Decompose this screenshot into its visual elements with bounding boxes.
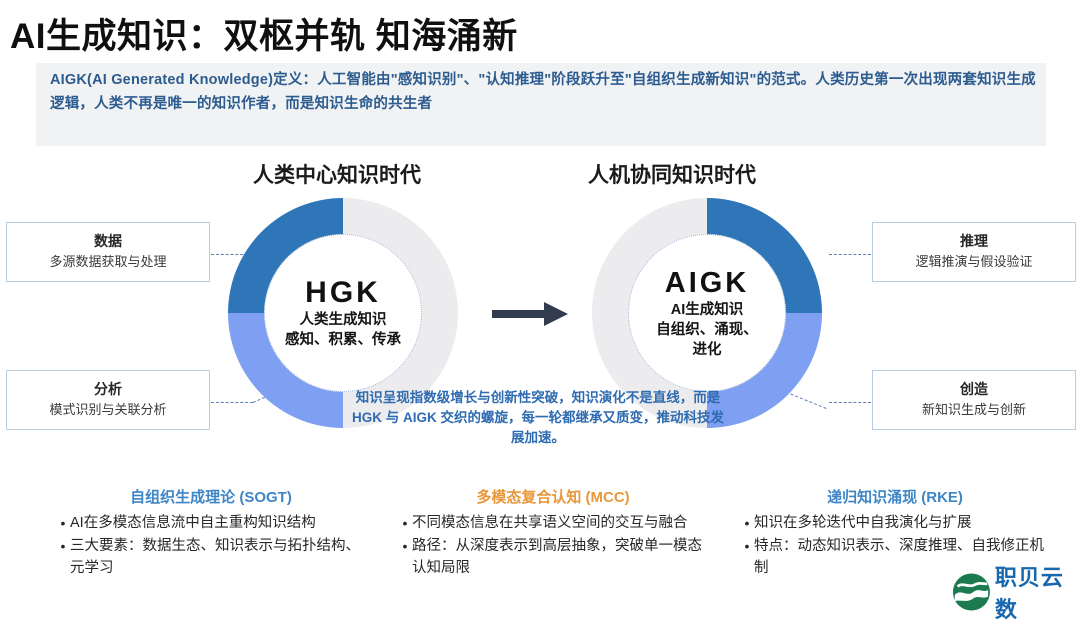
donut-desc-aigk-line3: 进化 xyxy=(693,340,722,360)
list-item-text: AI在多模态信息流中自主重构知识结构 xyxy=(70,512,366,534)
donut-code-aigk: AIGK xyxy=(665,266,750,300)
slide-root: AI生成知识：双枢并轨 知海涌新 AIGK(AI Generated Knowl… xyxy=(0,0,1080,608)
watermark: 职贝云数 xyxy=(952,560,1080,624)
connector-aigk-to-creation xyxy=(829,402,871,403)
list-item: • 知识在多轮迭代中自我演化与扩展 xyxy=(740,512,1050,534)
theory-column-sogt-title: 自组织生成理论 (SOGT) xyxy=(56,487,366,509)
definition-banner-text: AIGK(AI Generated Knowledge)定义：人工智能由"感知识… xyxy=(50,68,1040,116)
connector-aigk-to-reasoning xyxy=(829,254,871,255)
info-box-analysis-title: 分析 xyxy=(13,380,203,399)
info-box-reasoning-title: 推理 xyxy=(879,232,1069,251)
bullet-icon: • xyxy=(398,535,412,557)
donut-desc-aigk-line2: 自组织、涌现、 xyxy=(656,320,758,340)
info-box-creation-subtitle: 新知识生成与创新 xyxy=(879,400,1069,419)
page-title: AI生成知识：双枢并轨 知海涌新 xyxy=(10,8,518,59)
wave-logo-icon xyxy=(952,571,991,613)
info-box-analysis[interactable]: 分析 模式识别与关联分析 xyxy=(6,370,210,430)
bullet-icon: • xyxy=(740,535,754,557)
info-box-analysis-subtitle: 模式识别与关联分析 xyxy=(13,400,203,419)
theory-column-rke-title: 递归知识涌现 (RKE) xyxy=(740,487,1050,509)
theory-column-sogt: 自组织生成理论 (SOGT) • AI在多模态信息流中自主重构知识结构 • 三大… xyxy=(56,487,366,580)
center-caption: 知识呈现指数级增长与创新性突破，知识演化不是直线，而是 HGK 与 AIGK 交… xyxy=(352,388,724,448)
donut-code-hgk: HGK xyxy=(305,276,381,310)
info-box-data[interactable]: 数据 多源数据获取与处理 xyxy=(6,222,210,282)
list-item-text: 知识在多轮迭代中自我演化与扩展 xyxy=(754,512,1050,534)
info-box-reasoning[interactable]: 推理 逻辑推演与假设验证 xyxy=(872,222,1076,282)
list-item: • 不同模态信息在共享语义空间的交互与融合 xyxy=(398,512,708,534)
bullet-icon: • xyxy=(398,512,412,534)
list-item: • AI在多模态信息流中自主重构知识结构 xyxy=(56,512,366,534)
donut-desc-hgk-line1: 人类生成知识 xyxy=(300,310,387,330)
list-item-text: 三大要素：数据生态、知识表示与拓扑结构、元学习 xyxy=(70,535,366,579)
watermark-text: 职贝云数 xyxy=(995,560,1080,624)
donut-desc-aigk-line1: AI生成知识 xyxy=(671,300,744,320)
info-box-creation-title: 创造 xyxy=(879,380,1069,399)
list-item: • 三大要素：数据生态、知识表示与拓扑结构、元学习 xyxy=(56,535,366,579)
info-box-creation[interactable]: 创造 新知识生成与创新 xyxy=(872,370,1076,430)
era-heading-right: 人机协同知识时代 xyxy=(588,159,756,189)
era-heading-left: 人类中心知识时代 xyxy=(253,159,421,189)
theory-column-mcc: 多模态复合认知 (MCC) • 不同模态信息在共享语义空间的交互与融合 • 路径… xyxy=(398,487,708,580)
theory-column-mcc-title: 多模态复合认知 (MCC) xyxy=(398,487,708,509)
info-box-data-title: 数据 xyxy=(13,232,203,251)
donut-desc-hgk-line2: 感知、积累、传承 xyxy=(285,330,401,350)
bullet-icon: • xyxy=(56,512,70,534)
list-item: • 路径：从深度表示到高层抽象，突破单一模态认知局限 xyxy=(398,535,708,579)
list-item-text: 不同模态信息在共享语义空间的交互与融合 xyxy=(412,512,708,534)
info-box-data-subtitle: 多源数据获取与处理 xyxy=(13,252,203,271)
list-item-text: 路径：从深度表示到高层抽象，突破单一模态认知局限 xyxy=(412,535,708,579)
transition-arrow-icon xyxy=(492,300,570,328)
bullet-icon: • xyxy=(56,535,70,557)
bullet-icon: • xyxy=(740,512,754,534)
info-box-reasoning-subtitle: 逻辑推演与假设验证 xyxy=(879,252,1069,271)
